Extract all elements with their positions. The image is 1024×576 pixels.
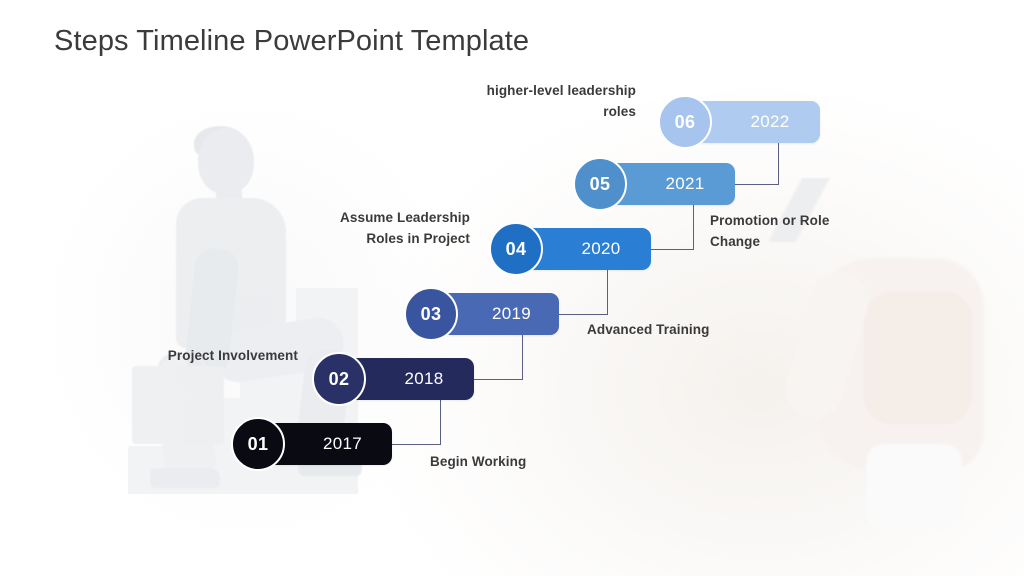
step-label-01: Begin Working (430, 452, 630, 473)
timeline-step-05[interactable]: 2021 05 (595, 163, 735, 205)
step-year-02: 2018 (374, 358, 474, 400)
timeline-step-06[interactable]: 2022 06 (680, 101, 820, 143)
step-label-04: Assume LeadershipRoles in Project (285, 208, 470, 250)
step-year-06: 2022 (720, 101, 820, 143)
slide-canvas: Steps Timeline PowerPoint Template 2017 … (0, 0, 1024, 576)
timeline-step-04[interactable]: 2020 04 (511, 228, 651, 270)
step-badge-05[interactable]: 05 (573, 157, 627, 211)
step-year-04: 2020 (551, 228, 651, 270)
step-badge-06[interactable]: 06 (658, 95, 712, 149)
step-label-03: Advanced Training (587, 320, 797, 341)
step-badge-03[interactable]: 03 (404, 287, 458, 341)
step-label-05: Promotion or RoleChange (710, 211, 870, 253)
step-badge-01[interactable]: 01 (231, 417, 285, 471)
step-label-06: higher-level leadershiproles (440, 81, 636, 123)
step-year-03: 2019 (464, 293, 559, 335)
step-year-01: 2017 (293, 423, 392, 465)
step-year-05: 2021 (635, 163, 735, 205)
step-badge-02[interactable]: 02 (312, 352, 366, 406)
step-label-02: Project Involvement (113, 346, 298, 367)
timeline-step-01[interactable]: 2017 01 (253, 423, 392, 465)
timeline-step-03[interactable]: 2019 03 (426, 293, 559, 335)
timeline-step-02[interactable]: 2018 02 (334, 358, 474, 400)
step-badge-04[interactable]: 04 (489, 222, 543, 276)
